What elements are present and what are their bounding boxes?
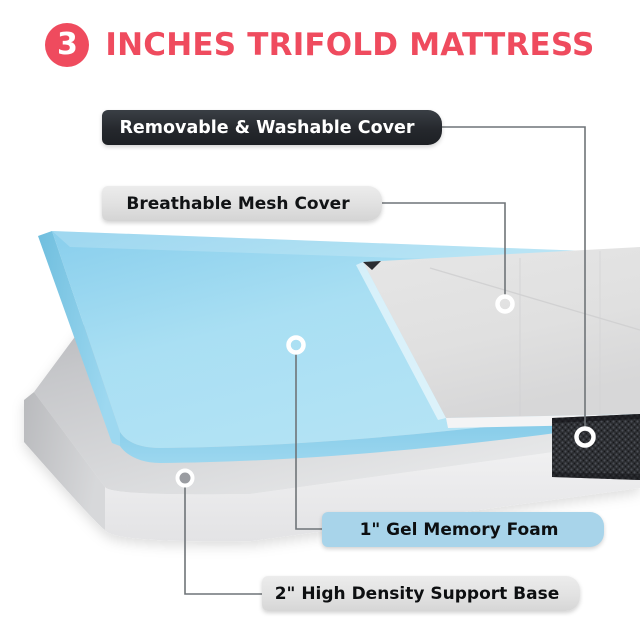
marker-support-base bbox=[178, 471, 193, 486]
callout-support-base[interactable]: 2" High Density Support Base bbox=[262, 576, 580, 611]
callout-gel-memory-foam[interactable]: 1" Gel Memory Foam bbox=[322, 512, 604, 547]
callout-removable-cover-label: Removable & Washable Cover bbox=[119, 118, 414, 138]
callout-breathable-mesh[interactable]: Breathable Mesh Cover bbox=[102, 186, 382, 221]
callout-removable-cover[interactable]: Removable & Washable Cover bbox=[102, 110, 442, 145]
mattress-infographic: 3 INCHES TRIFOLD MATTRESS bbox=[0, 0, 640, 640]
callout-gel-memory-foam-label: 1" Gel Memory Foam bbox=[360, 520, 559, 540]
breathable-mesh-band bbox=[552, 414, 640, 480]
callout-breathable-mesh-label: Breathable Mesh Cover bbox=[126, 194, 349, 214]
callout-support-base-label: 2" High Density Support Base bbox=[275, 584, 560, 604]
